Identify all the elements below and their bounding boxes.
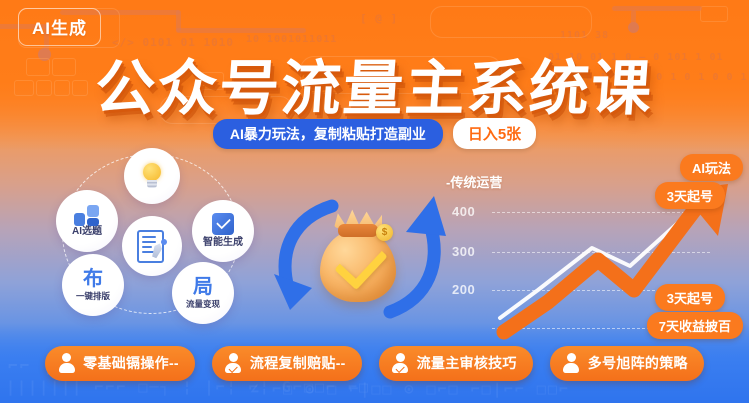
diagram-node-smart-generate[interactable]: 智能生成: [192, 200, 254, 262]
layout-icon: 布: [83, 269, 103, 289]
monetize-icon: 局: [193, 277, 213, 297]
workflow-diagram: AI选题 智能生成 布 一键排版 局 流量变现: [44, 146, 274, 326]
diagram-node-document[interactable]: [122, 216, 182, 276]
diagram-node-layout[interactable]: 布 一键排版: [62, 254, 124, 316]
diagram-node-idea[interactable]: [124, 148, 180, 204]
diagram-node-monetize[interactable]: 局 流量变现: [172, 262, 234, 324]
person-icon: [57, 353, 76, 373]
person-check-icon: [224, 353, 243, 373]
lightbulb-icon: [141, 163, 163, 189]
diagram-node-sublabel: 流量变现: [186, 298, 220, 310]
person-icon: [562, 353, 581, 373]
subtitle-main-pill: AI暴力玩法，复制粘贴打造副业: [213, 119, 443, 149]
feature-button-label: 多号旭阵的策略: [588, 353, 688, 373]
page-title: 公众号流量主系统课: [0, 40, 749, 127]
feature-button-row: 零基础镉操作-- 流程复制赔贴-- 流量主审核技巧 多号旭阵的策略: [0, 346, 749, 381]
diagram-node-label: AI选题: [72, 227, 102, 238]
diagram-node-ai-topic[interactable]: AI选题: [56, 190, 118, 252]
money-bag-illustration: $: [272, 186, 440, 326]
diagram-node-label: 智能生成: [203, 238, 243, 249]
person-check-icon: [391, 353, 410, 373]
money-bag-check-icon: $: [318, 208, 398, 302]
chart-tag-3day-top: 3天起号: [655, 182, 725, 209]
document-pen-icon: [137, 230, 167, 262]
chart-tag-7day-income: 7天收益披百: [647, 312, 743, 339]
feature-button-label: 流程复制赔贴--: [250, 353, 346, 373]
chart-tag-3day-bottom: 3天起号: [655, 284, 725, 311]
dollar-coin-icon: $: [376, 224, 393, 241]
feature-button-label: 流量主审核技巧: [417, 353, 517, 373]
growth-chart: -传统运营 400 300 200 AI玩法 3天起号 3天起号 7天收益披百: [452, 150, 749, 340]
smart-check-icon: [212, 213, 234, 235]
feature-button-zero-basis[interactable]: 零基础镉操作--: [45, 346, 195, 381]
subtitle-row: AI暴力玩法，复制粘贴打造副业 日入5张: [0, 118, 749, 149]
feature-button-copy-process[interactable]: 流程复制赔贴--: [212, 346, 362, 381]
subtitle-side-pill: 日入5张: [453, 118, 536, 149]
chart-tag-ai-method: AI玩法: [680, 154, 743, 181]
diagram-node-sublabel: 一键排版: [76, 290, 110, 302]
feature-button-review-tips[interactable]: 流量主审核技巧: [379, 346, 533, 381]
ai-topic-icon: [74, 205, 100, 227]
feature-button-label: 零基础镉操作--: [83, 353, 179, 373]
feature-button-matrix-strategy[interactable]: 多号旭阵的策略: [550, 346, 704, 381]
poster-canvas: </> 0101 01 1010 10 1001011011 [ @ ] 110…: [0, 0, 749, 403]
